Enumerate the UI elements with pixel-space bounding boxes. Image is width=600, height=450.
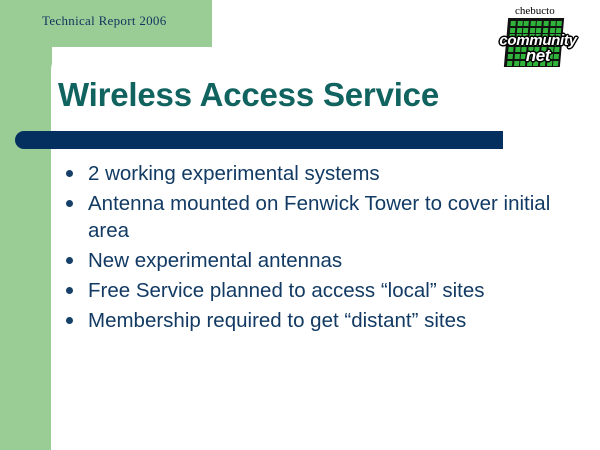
logo-grid-cell (557, 21, 562, 26)
logo-grid-cell (510, 21, 515, 26)
logo-grid-cell (517, 21, 522, 26)
page-title: Wireless Access Service (58, 76, 439, 114)
list-item-label: New experimental antennas (88, 249, 342, 272)
bullet-dot-icon (66, 317, 73, 324)
list-item-label: Membership required to get “distant” sit… (88, 309, 466, 332)
logo-grid-cell (524, 21, 529, 26)
presentation-slide: Technical Report 2006 chebucto community… (0, 0, 600, 450)
logo-grid-cell (537, 21, 542, 26)
list-item: 2 working experimental systems (62, 160, 562, 187)
list-item-label: 2 working experimental systems (88, 162, 380, 185)
technical-report-header-label: Technical Report 2006 (42, 13, 212, 29)
left-green-sidebar-band (0, 0, 52, 450)
bullet-dot-icon (66, 287, 73, 294)
logo-grid-cell (543, 21, 548, 26)
bullet-dot-icon (66, 170, 73, 177)
list-item: Membership required to get “distant” sit… (62, 307, 562, 334)
bullet-dot-icon (66, 257, 73, 264)
logo-net-text: net (493, 46, 583, 66)
title-divider-rule (15, 131, 503, 149)
chebucto-community-net-logo: chebucto community net (493, 5, 583, 67)
logo-chebucto-text: chebucto (515, 5, 555, 17)
logo-grid-cell (550, 21, 555, 26)
bullet-list: 2 working experimental systemsAntenna mo… (62, 160, 562, 337)
list-item: Antenna mounted on Fenwick Tower to cove… (62, 190, 562, 244)
list-item-label: Free Service planned to access “local” s… (88, 279, 485, 302)
logo-grid-cell (530, 21, 535, 26)
list-item: New experimental antennas (62, 247, 562, 274)
bullet-dot-icon (66, 200, 73, 207)
list-item-label: Antenna mounted on Fenwick Tower to cove… (88, 192, 550, 242)
list-item: Free Service planned to access “local” s… (62, 277, 562, 304)
